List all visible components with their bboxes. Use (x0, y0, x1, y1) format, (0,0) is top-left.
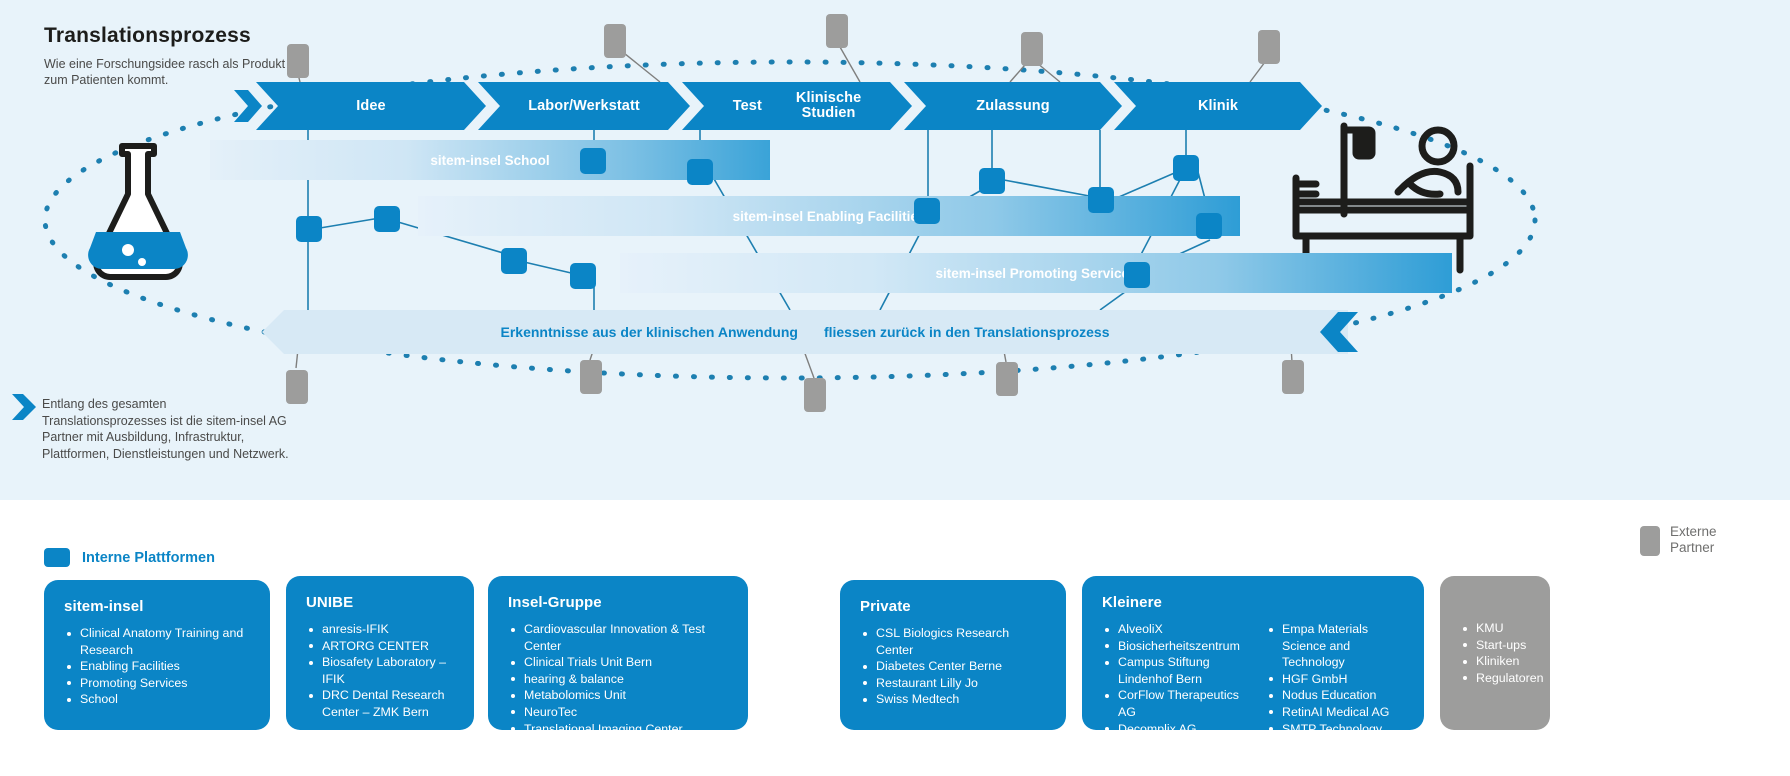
process-step-label: Klinik (1198, 99, 1238, 114)
external-partner-node[interactable] (826, 14, 848, 48)
legend-internal-platforms: Interne Plattformen (44, 548, 215, 567)
card-unibe[interactable]: UNIBE anresis-IFIK ARTORG CENTER Biosafe… (286, 576, 474, 730)
list-item: HGF GmbH (1280, 671, 1404, 688)
process-step-zulassung[interactable]: Zulassung (904, 82, 1122, 130)
feedback-arrow-icon (1298, 310, 1358, 354)
card-list: KMU Start-ups Kliniken Regulatoren (1460, 620, 1530, 686)
band-label: sitem-insel School (210, 153, 770, 168)
band-sitem-insel-school: sitem-insel School (210, 140, 770, 180)
lead-arrow-icon (234, 90, 264, 122)
process-step-label: Labor/Werkstatt (528, 99, 640, 114)
platform-node[interactable] (687, 159, 713, 185)
card-list: Clinical Anatomy Training and Research E… (64, 625, 250, 708)
card-list: Cardiovascular Innovation & Test Center … (508, 621, 728, 770)
list-item: Regulatoren (1474, 670, 1530, 687)
platform-node[interactable] (374, 206, 400, 232)
list-item: KMU (1474, 620, 1530, 637)
process-step-idee[interactable]: Idee (256, 82, 486, 130)
card-sitem-insel[interactable]: sitem-insel Clinical Anatomy Training an… (44, 580, 270, 730)
card-list: CSL Biologics Research Center Diabetes C… (860, 625, 1046, 708)
list-item: anresis-IFIK (320, 621, 454, 638)
card-insel-gruppe[interactable]: Insel-Gruppe Cardiovascular Innovation &… (488, 576, 748, 730)
external-partner-node[interactable] (1021, 32, 1043, 66)
external-partner-node[interactable] (996, 362, 1018, 396)
external-partner-node[interactable] (604, 24, 626, 58)
band-label: sitem-insel Enabling Facilities (418, 209, 1240, 224)
platform-node[interactable] (979, 168, 1005, 194)
list-item: Translational Imaging Center (522, 721, 728, 738)
card-title: Kleinere (1102, 594, 1404, 611)
legend-label: Externe Partner (1670, 524, 1717, 556)
band-sitem-insel-promoting-services: sitem-insel Promoting Services (620, 253, 1452, 293)
external-partner-node[interactable] (804, 378, 826, 412)
card-list-left: AlveoliX Biosicherheitszentrum Campus St… (1102, 621, 1240, 754)
band-feedback: Erkenntnisse aus der klinischen Anwendun… (262, 310, 1348, 354)
internal-platform-swatch-icon (44, 548, 70, 567)
external-partner-node[interactable] (580, 360, 602, 394)
card-title: sitem-insel (64, 598, 250, 615)
card-externe-partner[interactable]: Externe Partner KMU Start-ups Kliniken R… (1440, 576, 1550, 730)
list-item: Restaurant Lilly Jo (874, 675, 1046, 692)
card-title: UNIBE (306, 594, 454, 611)
feedback-label-right: fliessen zurück in den Translationsproze… (824, 324, 1110, 340)
list-item: Promoting Services (78, 675, 250, 692)
list-item: Enabling Facilities (78, 658, 250, 675)
platform-node[interactable] (914, 198, 940, 224)
platform-node[interactable] (570, 263, 596, 289)
process-step-label-test: Test (733, 99, 762, 114)
list-item: Metabolomics Unit (522, 687, 728, 704)
list-item: Nodus Education (1280, 687, 1404, 704)
list-item: Kliniken (1474, 653, 1530, 670)
card-kleinere[interactable]: Kleinere AlveoliX Biosicherheitszentrum … (1082, 576, 1424, 730)
list-item: Diabetes Center Berne (874, 658, 1046, 675)
platform-node[interactable] (1088, 187, 1114, 213)
band-sitem-insel-enabling-facilities: sitem-insel Enabling Facilities (418, 196, 1240, 236)
list-item: Clinical Anatomy Training and Research (78, 625, 250, 658)
list-item: CSL Biologics Research Center (874, 625, 1046, 658)
list-item: Cardiovascular Innovation & Test Center (522, 621, 728, 654)
legend-label: Interne Plattformen (82, 550, 215, 566)
note-text: Entlang des gesamten Translationsprozess… (42, 396, 292, 462)
external-partner-node[interactable] (1282, 360, 1304, 394)
card-private[interactable]: Private CSL Biologics Research Center Di… (840, 580, 1066, 730)
list-item: Biosafety Laboratory – IFIK (320, 654, 454, 687)
platform-node[interactable] (1173, 155, 1199, 181)
list-item: Campus Stiftung Lindenhof Bern (1116, 654, 1240, 687)
platform-node[interactable] (1196, 213, 1222, 239)
list-item: NeuroTec (522, 704, 728, 721)
platform-node[interactable] (1124, 262, 1150, 288)
list-item: Translational Musculoskeletal Research C… (522, 737, 728, 770)
platform-node[interactable] (296, 216, 322, 242)
external-partner-swatch-icon (1640, 526, 1660, 556)
list-item: RetinAI Medical AG (1280, 704, 1404, 721)
band-label: sitem-insel Promoting Services (620, 266, 1452, 281)
list-item: School (78, 691, 250, 708)
process-chevron-row: Idee Labor/Werkstatt Test Klinische Stud… (256, 82, 1516, 130)
flask-icon (78, 140, 198, 285)
process-step-labor-werkstatt[interactable]: Labor/Werkstatt (478, 82, 690, 130)
infographic-top-panel: Translationsprozess Wie eine Forschungsi… (0, 0, 1790, 500)
process-step-label: Idee (356, 99, 385, 114)
external-partner-node[interactable] (1258, 30, 1280, 64)
card-title: Private (860, 598, 1046, 615)
platform-node[interactable] (580, 148, 606, 174)
list-item: Decomplix AG (1116, 721, 1240, 738)
note-arrow-icon (12, 394, 38, 420)
list-item: DRC Dental Research Center – ZMK Bern (320, 687, 454, 720)
list-item: ARTORG CENTER (320, 638, 454, 655)
external-partner-node[interactable] (287, 44, 309, 78)
list-item: SMTP Technology Switzerland AG (1280, 721, 1404, 754)
card-list-right: Empa Materials Science and Technology HG… (1266, 621, 1404, 754)
legend-external-partner: Externe Partner (1640, 524, 1717, 556)
feedback-label-left: Erkenntnisse aus der klinischen Anwendun… (501, 324, 798, 340)
list-item: Start-ups (1474, 637, 1530, 654)
list-item: Empa Materials Science and Technology (1280, 621, 1404, 671)
list-item: Biosicherheitszentrum (1116, 638, 1240, 655)
list-item: CorFlow Therapeutics AG (1116, 687, 1240, 720)
process-step-test-klinische-studien[interactable]: Test Klinische Studien (682, 82, 912, 130)
process-step-label-klinische-studien: Klinische Studien (796, 91, 861, 121)
list-item: AlveoliX (1116, 621, 1240, 638)
list-item: hearing & balance (522, 671, 728, 688)
list-item: Clinical Trials Unit Bern (522, 654, 728, 671)
card-list: anresis-IFIK ARTORG CENTER Biosafety Lab… (306, 621, 454, 721)
card-title: Insel-Gruppe (508, 594, 728, 611)
process-step-klinik[interactable]: Klinik (1114, 82, 1322, 130)
process-step-label: Zulassung (976, 99, 1049, 114)
platform-node[interactable] (501, 248, 527, 274)
list-item: Swiss Medtech (874, 691, 1046, 708)
